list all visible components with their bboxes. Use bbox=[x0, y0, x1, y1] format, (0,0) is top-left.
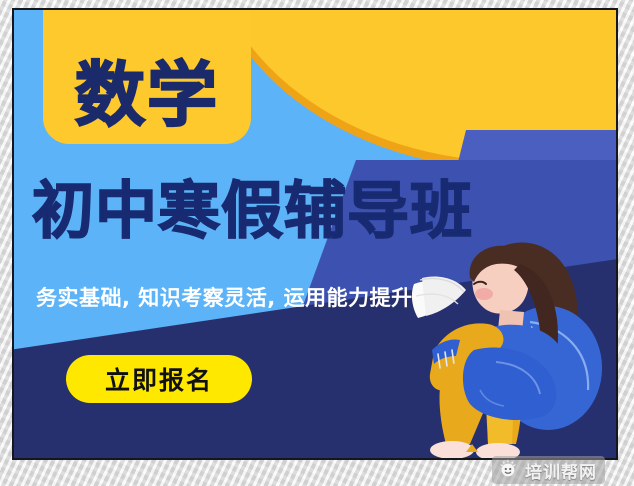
subject-badge: 数学 bbox=[43, 8, 251, 144]
site-watermark: 培训帮网 bbox=[492, 456, 605, 484]
poster-headline: 初中寒假辅导班 bbox=[32, 180, 612, 242]
poster-subtitle: 务实基础, 知识考察灵活, 运用能力提升 bbox=[36, 288, 413, 309]
site-watermark-text: 培训帮网 bbox=[525, 458, 597, 483]
woman-reading-illustration bbox=[412, 238, 618, 460]
enroll-now-button-label: 立即报名 bbox=[105, 361, 213, 397]
enroll-now-button[interactable]: 立即报名 bbox=[66, 355, 252, 403]
course-promo-poster: 数学 初中寒假辅导班 务实基础, 知识考察灵活, 运用能力提升 立即报名 bbox=[12, 8, 618, 460]
sun-face-logo-icon bbox=[498, 458, 518, 483]
subject-badge-label: 数学 bbox=[75, 60, 219, 130]
